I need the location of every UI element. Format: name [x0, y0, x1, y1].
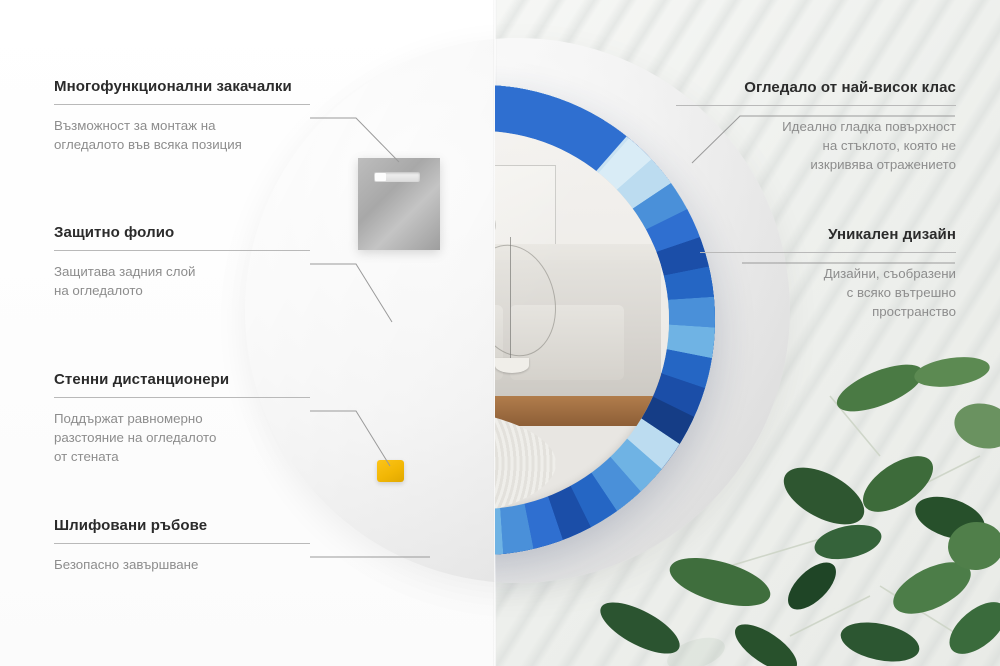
- callout-title: Шлифовани ръбове: [54, 517, 310, 534]
- callout-description: Идеално гладка повърхностна стъклото, ко…: [676, 117, 956, 174]
- callout-rule: [54, 104, 310, 105]
- wall-spacer-thumbnail: [377, 460, 404, 482]
- callout-top-class-mirror: Огледало от най-висок клас Идеално гладк…: [676, 79, 956, 174]
- hanger-slot-icon: [374, 172, 420, 182]
- infographic-stage: Многофункционални закачалки Възможност з…: [0, 0, 1000, 666]
- callout-polished-edges: Шлифовани ръбове Безопасно завършване: [54, 517, 310, 574]
- callout-wall-spacers: Стенни дистанционери Поддържат равномерн…: [54, 371, 310, 466]
- callout-description: Възможност за монтаж наогледалото във вс…: [54, 116, 310, 154]
- callout-rule: [54, 250, 310, 251]
- callout-multifunctional-hangers: Многофункционални закачалки Възможност з…: [54, 78, 310, 154]
- callout-description: Защитава задния слойна огледалото: [54, 262, 310, 300]
- reflection-lamp-wire: [510, 237, 511, 366]
- hanger-plate-thumbnail: [358, 158, 440, 250]
- callout-title: Уникален дизайн: [700, 226, 956, 243]
- callout-description: Безопасно завършване: [54, 555, 310, 574]
- callout-description: Поддържат равномерноразстояние на огледа…: [54, 409, 310, 466]
- callout-rule: [676, 105, 956, 106]
- callout-rule: [700, 252, 956, 253]
- callout-rule: [54, 543, 310, 544]
- callout-description: Дизайни, съобразенис всяко вътрешнопрост…: [700, 264, 956, 321]
- reflection-lamp-shade: [495, 358, 529, 373]
- callout-title: Защитно фолио: [54, 224, 310, 241]
- callout-title: Многофункционални закачалки: [54, 78, 310, 95]
- callout-unique-design: Уникален дизайн Дизайни, съобразенис вся…: [700, 226, 956, 321]
- callout-title: Огледало от най-висок клас: [676, 79, 956, 96]
- callout-title: Стенни дистанционери: [54, 371, 310, 388]
- callout-rule: [54, 397, 310, 398]
- callout-protective-film: Защитно фолио Защитава задния слойна огл…: [54, 224, 310, 300]
